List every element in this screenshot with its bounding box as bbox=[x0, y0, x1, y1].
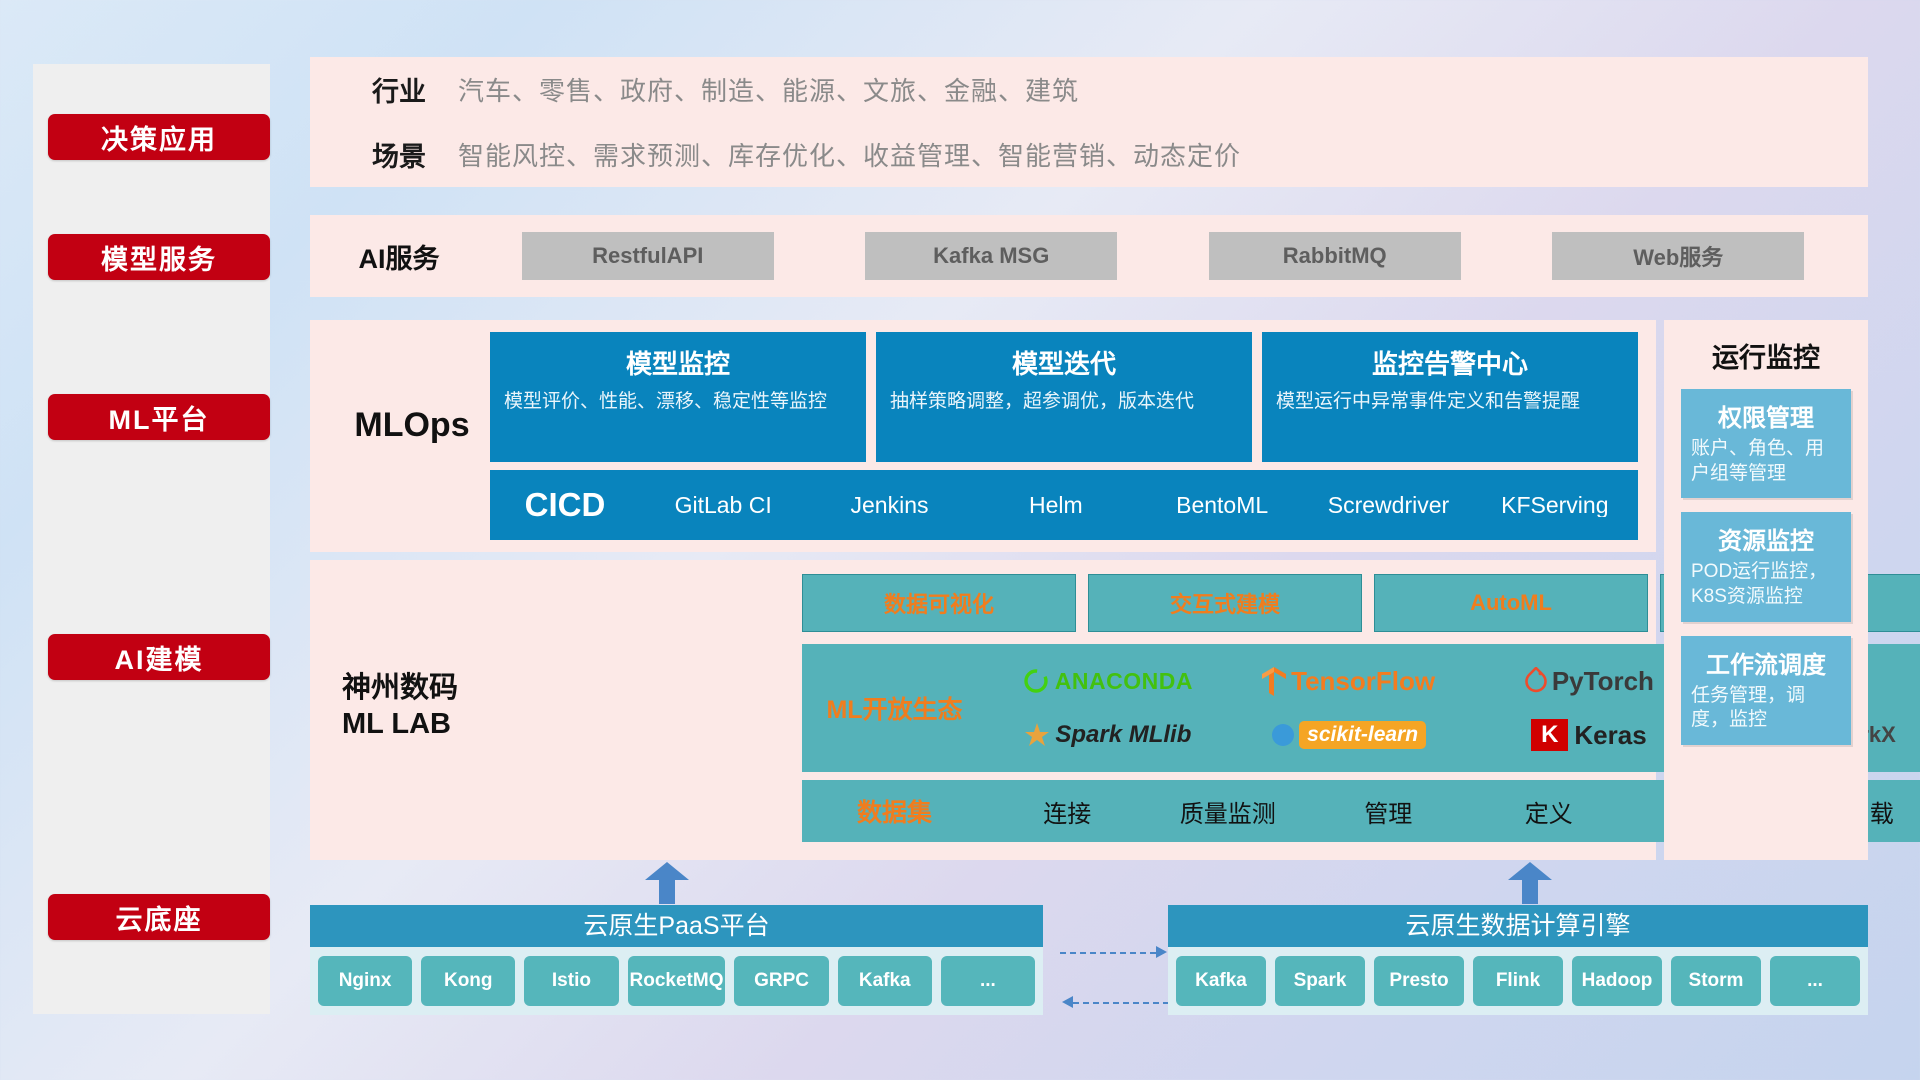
cloud-paas-rocketmq[interactable]: RocketMQ bbox=[628, 956, 726, 1006]
ml-lab-band: 神州数码 ML LAB 数据可视化 交互式建模 AutoML JupyterLa… bbox=[310, 560, 1656, 860]
cloud-engine-spark[interactable]: Spark bbox=[1275, 956, 1365, 1006]
ai-service-restfulapi[interactable]: RestfulAPI bbox=[522, 232, 774, 280]
connector-dashed-left bbox=[1073, 1002, 1169, 1004]
layer-tag-label: AI建模 bbox=[115, 638, 204, 677]
ai-service-rabbitmq[interactable]: RabbitMQ bbox=[1209, 232, 1461, 280]
connector-arrow-right-icon bbox=[1156, 946, 1167, 958]
industry-label: 行业 bbox=[340, 70, 458, 109]
arrow-up-paas-icon bbox=[645, 862, 689, 904]
ai-service-items: RestfulAPI Kafka MSG RabbitMQ Web服务 bbox=[458, 232, 1868, 280]
monitor-box-workflow[interactable]: 工作流调度 任务管理，调度，监控 bbox=[1681, 636, 1851, 745]
keras-label: Keras bbox=[1574, 720, 1646, 751]
ai-service-band: AI服务 RestfulAPI Kafka MSG RabbitMQ Web服务 bbox=[310, 215, 1868, 297]
dataset-item-manage[interactable]: 管理 bbox=[1308, 794, 1469, 829]
pytorch-logo: PyTorch bbox=[1524, 654, 1654, 708]
cloud-engine-presto[interactable]: Presto bbox=[1374, 956, 1464, 1006]
cloud-engine-flink[interactable]: Flink bbox=[1473, 956, 1563, 1006]
cloud-paas-istio[interactable]: Istio bbox=[524, 956, 618, 1006]
spark-mllib-logo: Spark MLlib bbox=[1023, 708, 1191, 762]
cloud-engine-title: 云原生数据计算引擎 bbox=[1168, 905, 1868, 947]
cloud-engine-storm[interactable]: Storm bbox=[1671, 956, 1761, 1006]
monitor-box-desc: POD运行监控，K8S资源监控 bbox=[1681, 560, 1851, 621]
scikit-learn-logo: scikit-learn bbox=[1270, 708, 1426, 762]
cloud-paas-kafka[interactable]: Kafka bbox=[838, 956, 932, 1006]
ml-lab-label: 神州数码 ML LAB bbox=[326, 670, 512, 743]
cloud-paas-title: 云原生PaaS平台 bbox=[310, 905, 1043, 947]
industry-values: 汽车、零售、政府、制造、能源、文旅、金融、建筑 bbox=[458, 71, 1079, 108]
cicd-item-kfserving[interactable]: KFServing bbox=[1472, 493, 1638, 517]
layer-tag-decision-app[interactable]: 决策应用 bbox=[48, 114, 270, 160]
monitor-box-permission[interactable]: 权限管理 账户、角色、用户组等管理 bbox=[1681, 389, 1851, 498]
cicd-items: GitLab CI Jenkins Helm BentoML Screwdriv… bbox=[640, 493, 1638, 517]
cloud-paas-group: 云原生PaaS平台 Nginx Kong Istio RocketMQ GRPC… bbox=[310, 905, 1043, 1015]
mlops-card-model-iteration[interactable]: 模型迭代 抽样策略调整，超参调优，版本迭代 bbox=[876, 332, 1252, 462]
decision-application-band: 行业 汽车、零售、政府、制造、能源、文旅、金融、建筑 场景 智能风控、需求预测、… bbox=[310, 57, 1868, 187]
anaconda-label: ANACONDA bbox=[1055, 668, 1193, 695]
runtime-monitoring-title: 运行监控 bbox=[1664, 320, 1868, 375]
architecture-diagram: 决策应用 模型服务 ML平台 AI建模 云底座 行业 汽车、零售、政府、制造、能… bbox=[0, 0, 1920, 1080]
dataset-item-quality-monitor[interactable]: 质量监测 bbox=[1148, 794, 1309, 829]
ai-service-web[interactable]: Web服务 bbox=[1552, 232, 1804, 280]
cloud-paas-kong[interactable]: Kong bbox=[421, 956, 515, 1006]
cloud-paas-grpc[interactable]: GRPC bbox=[734, 956, 828, 1006]
ml-lab-chip-interactive-modeling[interactable]: 交互式建模 bbox=[1088, 574, 1362, 632]
ml-lab-chip-automl[interactable]: AutoML bbox=[1374, 574, 1648, 632]
layer-tag-cloud-base[interactable]: 云底座 bbox=[48, 894, 270, 940]
ml-lab-label-line2: ML LAB bbox=[342, 706, 512, 742]
industry-row: 行业 汽车、零售、政府、制造、能源、文旅、金融、建筑 bbox=[310, 57, 1868, 122]
ml-lab-chip-data-visualization[interactable]: 数据可视化 bbox=[802, 574, 1076, 632]
card-title: 模型监控 bbox=[490, 344, 866, 381]
card-desc: 模型评价、性能、漂移、稳定性等监控 bbox=[504, 389, 852, 414]
layer-tag-label: ML平台 bbox=[109, 398, 210, 437]
cloud-paas-nginx[interactable]: Nginx bbox=[318, 956, 412, 1006]
tensorflow-label: TensorFlow bbox=[1291, 666, 1435, 697]
cloud-engine-kafka[interactable]: Kafka bbox=[1176, 956, 1266, 1006]
card-title: 模型迭代 bbox=[876, 344, 1252, 381]
connector-arrow-left-icon bbox=[1062, 996, 1073, 1008]
dataset-item-define[interactable]: 定义 bbox=[1469, 794, 1630, 829]
layer-tag-ai-modeling[interactable]: AI建模 bbox=[48, 634, 270, 680]
card-desc: 模型运行中异常事件定义和告警提醒 bbox=[1276, 389, 1624, 414]
card-title: 监控告警中心 bbox=[1262, 344, 1638, 381]
scikit-learn-label: scikit-learn bbox=[1299, 721, 1426, 749]
card-desc: 抽样策略调整，超参调优，版本迭代 bbox=[890, 389, 1238, 414]
layer-tag-label: 云底座 bbox=[116, 898, 203, 937]
monitor-box-title: 资源监控 bbox=[1681, 512, 1851, 560]
ml-lab-label-line1: 神州数码 bbox=[342, 670, 512, 706]
layer-tag-label: 决策应用 bbox=[101, 118, 217, 157]
monitor-box-title: 工作流调度 bbox=[1681, 636, 1851, 684]
layer-tag-ml-platform[interactable]: ML平台 bbox=[48, 394, 270, 440]
keras-mark: K bbox=[1531, 719, 1568, 751]
arrow-up-engine-icon bbox=[1508, 862, 1552, 904]
cloud-paas-items: Nginx Kong Istio RocketMQ GRPC Kafka ... bbox=[310, 947, 1043, 1015]
cloud-engine-group: 云原生数据计算引擎 Kafka Spark Presto Flink Hadoo… bbox=[1168, 905, 1868, 1015]
ai-service-label: AI服务 bbox=[340, 237, 458, 276]
monitor-box-desc: 账户、角色、用户组等管理 bbox=[1681, 437, 1851, 498]
layer-tag-label: 模型服务 bbox=[101, 238, 217, 277]
cicd-item-gitlab-ci[interactable]: GitLab CI bbox=[640, 493, 806, 517]
spark-mllib-label: Spark MLlib bbox=[1055, 721, 1191, 749]
anaconda-logo: ANACONDA bbox=[1022, 654, 1193, 708]
cicd-item-helm[interactable]: Helm bbox=[973, 493, 1139, 517]
cicd-item-bentoml[interactable]: BentoML bbox=[1139, 493, 1305, 517]
dataset-item-connect[interactable]: 连接 bbox=[987, 794, 1148, 829]
pytorch-label: PyTorch bbox=[1552, 666, 1654, 697]
mlops-card-row: 模型监控 模型评价、性能、漂移、稳定性等监控 模型迭代 抽样策略调整，超参调优，… bbox=[490, 332, 1638, 462]
ml-open-ecosystem-title: ML开放生态 bbox=[802, 690, 987, 726]
runtime-monitoring-panel: 运行监控 权限管理 账户、角色、用户组等管理 资源监控 POD运行监控，K8S资… bbox=[1664, 320, 1868, 860]
tensorflow-logo: TensorFlow bbox=[1261, 654, 1435, 708]
cloud-engine-hadoop[interactable]: Hadoop bbox=[1572, 956, 1662, 1006]
ai-service-kafka-msg[interactable]: Kafka MSG bbox=[865, 232, 1117, 280]
mlops-label: MLOps bbox=[332, 406, 492, 445]
keras-logo: K Keras bbox=[1531, 708, 1647, 762]
monitor-box-desc: 任务管理，调度，监控 bbox=[1681, 684, 1851, 745]
monitor-box-resource[interactable]: 资源监控 POD运行监控，K8S资源监控 bbox=[1681, 512, 1851, 621]
scenario-values: 智能风控、需求预测、库存优化、收益管理、智能营销、动态定价 bbox=[458, 136, 1241, 173]
cloud-engine-more[interactable]: ... bbox=[1770, 956, 1860, 1006]
scenario-row: 场景 智能风控、需求预测、库存优化、收益管理、智能营销、动态定价 bbox=[310, 122, 1868, 187]
cicd-item-jenkins[interactable]: Jenkins bbox=[806, 493, 972, 517]
mlops-card-model-monitoring[interactable]: 模型监控 模型评价、性能、漂移、稳定性等监控 bbox=[490, 332, 866, 462]
connector-dashed-right bbox=[1060, 952, 1156, 954]
scenario-label: 场景 bbox=[340, 135, 458, 174]
cicd-row: CICD GitLab CI Jenkins Helm BentoML Scre… bbox=[490, 470, 1638, 540]
mlops-card-alert-center[interactable]: 监控告警中心 模型运行中异常事件定义和告警提醒 bbox=[1262, 332, 1638, 462]
cicd-item-screwdriver[interactable]: Screwdriver bbox=[1305, 493, 1471, 517]
cloud-engine-items: Kafka Spark Presto Flink Hadoop Storm ..… bbox=[1168, 947, 1868, 1015]
dataset-title: 数据集 bbox=[802, 793, 987, 829]
mlops-band: MLOps 模型监控 模型评价、性能、漂移、稳定性等监控 模型迭代 抽样策略调整… bbox=[310, 320, 1656, 552]
layer-tag-column: 决策应用 模型服务 ML平台 AI建模 云底座 bbox=[48, 64, 273, 1014]
cicd-title: CICD bbox=[490, 486, 640, 524]
monitor-box-title: 权限管理 bbox=[1681, 389, 1851, 437]
layer-tag-model-service[interactable]: 模型服务 bbox=[48, 234, 270, 280]
cloud-paas-more[interactable]: ... bbox=[941, 956, 1035, 1006]
